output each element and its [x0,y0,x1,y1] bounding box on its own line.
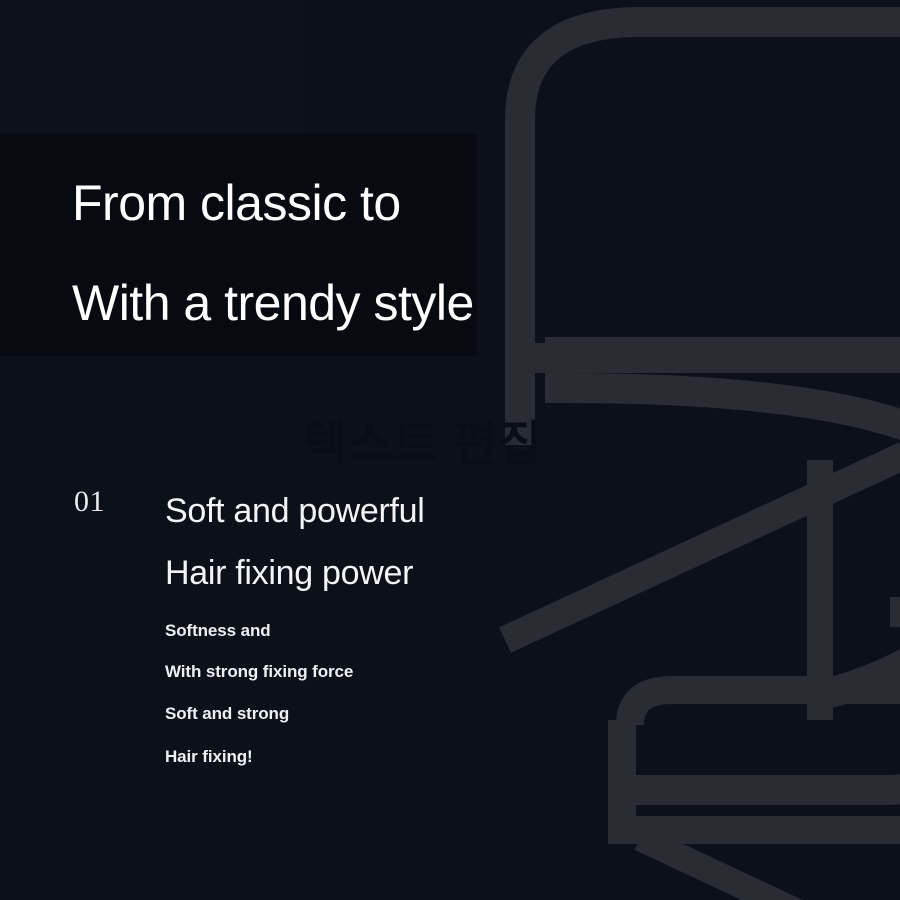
feature-subhead-line-1: Soft and powerful [165,494,425,528]
promo-slide: From classic to With a trendy style 텍스트 … [0,0,900,900]
feature-subhead-line-2: Hair fixing power [165,556,413,590]
feature-body-line: Soft and strong [165,705,289,722]
korean-watermark-text: 텍스트 편집 [303,420,543,470]
headline-line-1: From classic to [72,178,401,228]
slide-content: From classic to With a trendy style 텍스트 … [0,0,900,900]
feature-body-line: With strong fixing force [165,663,353,680]
feature-body-line: Softness and [165,622,271,639]
feature-body-line: Hair fixing! [165,748,253,765]
headline-line-2: With a trendy style [72,278,474,328]
feature-number: 01 [74,487,105,517]
